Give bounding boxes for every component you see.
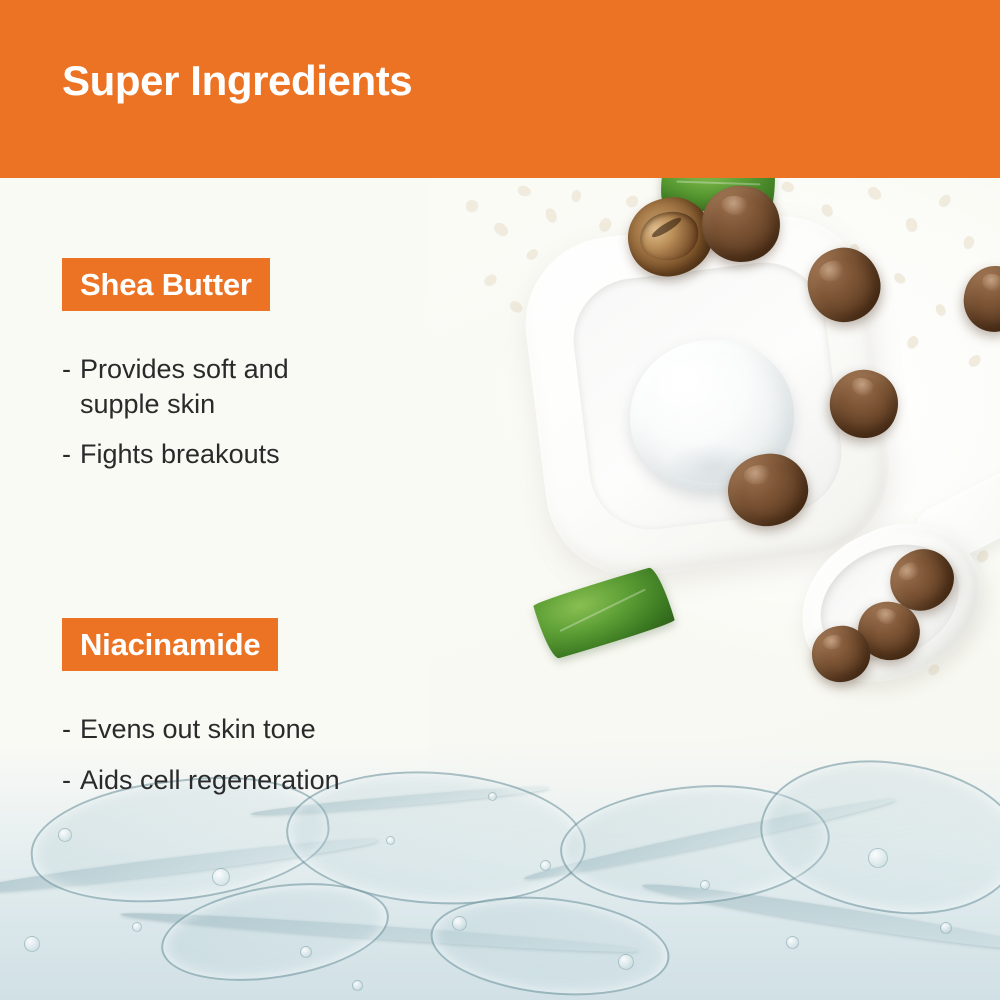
water-bubble [352,980,363,991]
shea-flake [967,353,983,368]
bullet-text: Provides soft and supple skin [80,352,289,421]
shea-flake [571,189,582,201]
water-bubble [700,880,710,890]
bullet-dash: - [62,712,71,747]
shea-flake [525,247,539,261]
shea-flake [906,334,920,349]
shea-flake [937,193,952,209]
list-item: - Evens out skin tone [62,712,462,747]
shea-flake [781,180,795,193]
list-item: - Provides soft and supple skin [62,352,422,421]
shea-flake [866,185,883,202]
shea-flake [975,548,990,564]
water-bubble [24,936,40,952]
list-item: - Fights breakouts [62,437,422,472]
shea-flake [493,220,511,237]
page-title: Super Ingredients [62,60,412,102]
ingredient-chip-niacinamide: Niacinamide [62,618,278,671]
shea-flake [509,299,525,314]
ingredient-bullets-niacinamide: - Evens out skin tone - Aids cell regene… [62,712,462,813]
shea-flake [963,235,975,249]
shea-flake [483,272,499,287]
shea-flake [934,303,947,317]
water-bubble [786,936,799,949]
green-leaf [532,565,676,661]
shea-flake [598,216,614,233]
ingredient-bullets-shea-butter: - Provides soft and supple skin - Fights… [62,352,422,488]
water-bubble [386,836,395,845]
shea-flake [544,207,559,224]
product-photo [430,178,1000,838]
water-bubble [618,954,634,970]
water-bubble [212,868,230,886]
bullet-dash: - [62,437,71,472]
bullet-dash: - [62,352,71,387]
shea-flake [819,202,834,218]
water-bubble [940,922,952,934]
bullet-dash: - [62,763,71,798]
bullet-text: Aids cell regeneration [80,763,340,798]
ingredient-chip-label: Niacinamide [80,629,260,660]
water-bubble [488,792,497,801]
ingredient-chip-label: Shea Butter [80,269,252,300]
list-item: - Aids cell regeneration [62,763,462,798]
water-bubble [540,860,551,871]
shea-flake [893,271,907,285]
water-bubble [452,916,467,931]
water-bubble [132,922,142,932]
ingredient-chip-shea-butter: Shea Butter [62,258,270,311]
water-bubble [58,828,72,842]
shea-flake [624,194,639,209]
bullet-text: Fights breakouts [80,437,280,472]
shea-flake [465,199,478,212]
header-banner: Super Ingredients [0,0,1000,178]
shea-flake [517,184,532,197]
water-bubble [300,946,312,958]
shea-flake [904,217,918,233]
bullet-text: Evens out skin tone [80,712,316,747]
infographic-page: Super Ingredients [0,0,1000,1000]
shea-nut [957,259,1000,338]
water-bubble [868,848,888,868]
